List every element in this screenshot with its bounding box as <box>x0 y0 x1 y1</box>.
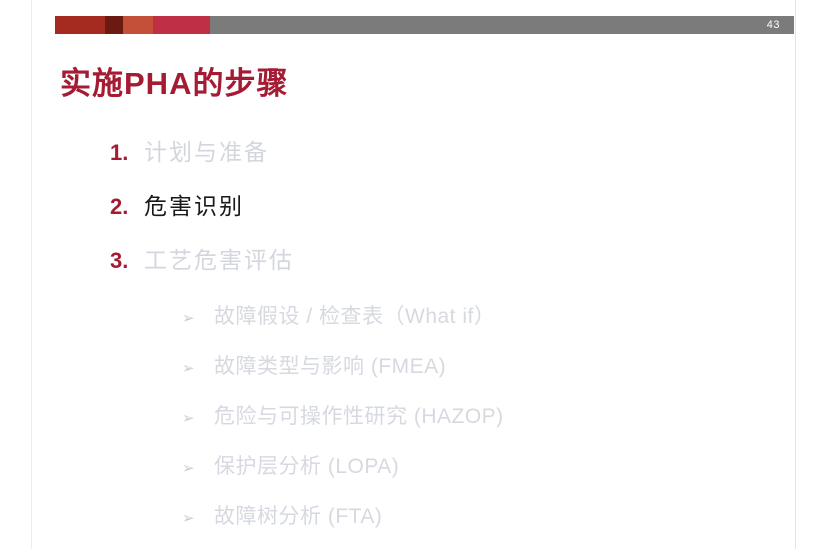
bar-segment-gray: 43 <box>210 16 794 34</box>
page-title: 实施PHA的步骤 <box>60 58 288 103</box>
arrow-bullet-icon: ➢ <box>182 459 214 477</box>
sub-item-lopa: ➢ 保护层分析 (LOPA) <box>182 450 782 500</box>
step-marker: 3. <box>110 248 144 274</box>
page-number: 43 <box>767 16 780 34</box>
step-marker: 2. <box>110 194 144 220</box>
arrow-bullet-icon: ➢ <box>182 359 214 377</box>
step-label: 工艺危害评估 <box>144 241 294 275</box>
step-item-3: 3. 工艺危害评估 <box>110 241 750 295</box>
sub-item-hazop: ➢ 危险与可操作性研究 (HAZOP) <box>182 400 782 450</box>
arrow-bullet-icon: ➢ <box>182 509 214 527</box>
step-item-2: 2. 危害识别 <box>110 187 750 241</box>
sub-item-label: 故障类型与影响 (FMEA) <box>214 350 446 380</box>
sub-item-label: 故障树分析 (FTA) <box>214 500 382 530</box>
bar-segment-brick-red <box>55 16 105 34</box>
step-item-1: 1. 计划与准备 <box>110 133 750 187</box>
step-marker: 1. <box>110 140 144 166</box>
arrow-bullet-icon: ➢ <box>182 309 214 327</box>
sub-items-list: ➢ 故障假设 / 检查表（What if） ➢ 故障类型与影响 (FMEA) ➢… <box>182 300 782 550</box>
sub-item-label: 保护层分析 (LOPA) <box>214 450 399 480</box>
step-label: 计划与准备 <box>144 133 269 167</box>
steps-list: 1. 计划与准备 2. 危害识别 3. 工艺危害评估 <box>110 133 750 295</box>
slide-canvas: 43 实施PHA的步骤 1. 计划与准备 2. 危害识别 3. 工艺危害评估 ➢… <box>0 0 827 549</box>
arrow-bullet-icon: ➢ <box>182 409 214 427</box>
sub-item-label: 危险与可操作性研究 (HAZOP) <box>214 400 504 430</box>
step-label: 危害识别 <box>144 187 244 221</box>
sub-item-what-if: ➢ 故障假设 / 检查表（What if） <box>182 300 782 350</box>
bar-segment-crimson <box>153 16 210 34</box>
sub-item-fmea: ➢ 故障类型与影响 (FMEA) <box>182 350 782 400</box>
decorative-top-bar: 43 <box>55 16 794 34</box>
bar-segment-dark-maroon <box>105 16 123 34</box>
bar-segment-orange-red <box>123 16 153 34</box>
sub-item-fta: ➢ 故障树分析 (FTA) <box>182 500 782 550</box>
sub-item-label: 故障假设 / 检查表（What if） <box>214 300 495 330</box>
